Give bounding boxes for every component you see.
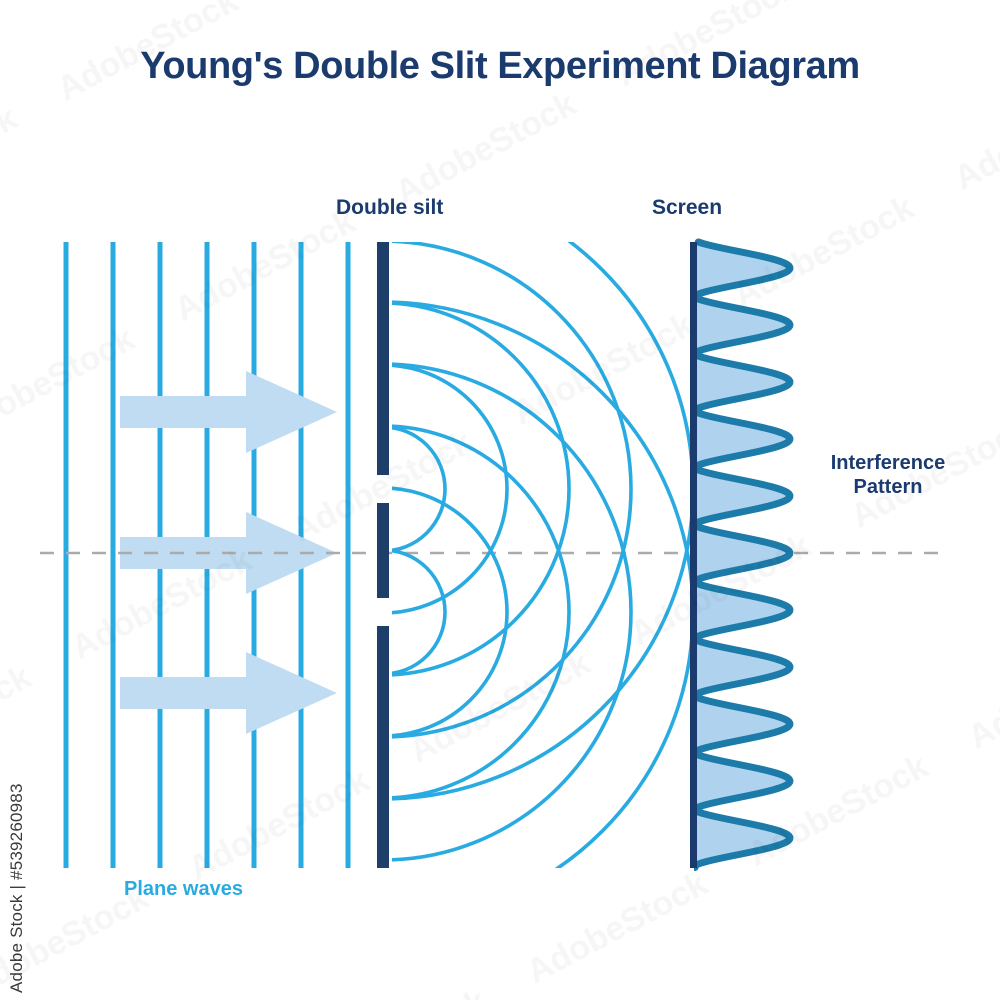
watermark-tile-overlay — [0, 0, 1000, 1000]
label-interference-line2: Pattern — [854, 476, 923, 498]
physics-diagram-svg: AdobeStock — [0, 0, 1000, 1000]
page-title: Young's Double Slit Experiment Diagram — [0, 44, 1000, 89]
label-screen: Screen — [652, 196, 722, 221]
watermark-credit: Adobe Stock | #539260983 — [7, 733, 27, 993]
diagram-canvas: AdobeStock — [0, 0, 1000, 1000]
label-interference-pattern: InterferencePattern — [808, 452, 968, 499]
label-interference-line1: Interference — [831, 452, 946, 474]
label-plane-waves: Plane waves — [124, 878, 243, 902]
label-double-slit: Double silt — [336, 196, 443, 221]
